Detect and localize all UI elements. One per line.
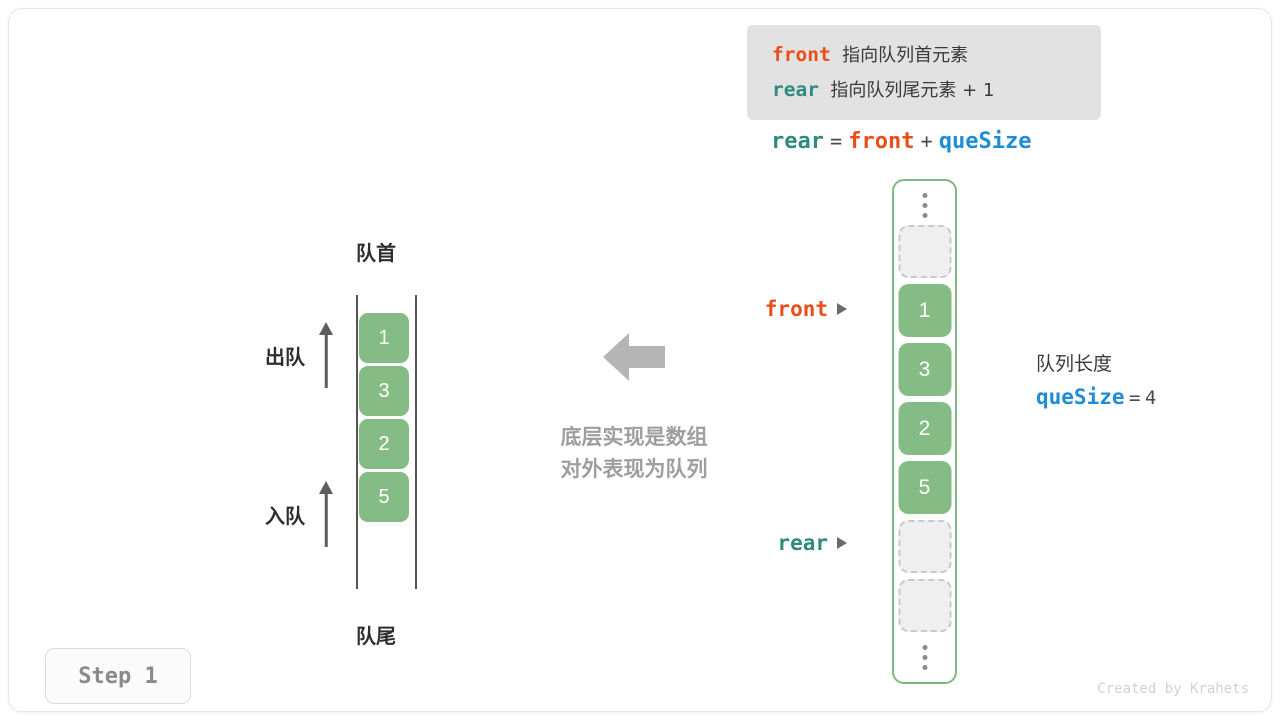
quesize-var: queSize — [1036, 385, 1125, 409]
equation-rhs-front: front — [848, 129, 914, 154]
credit-text: Created by Krahets — [1097, 681, 1249, 697]
diagram-card: front 指向队列首元素 rear 指向队列尾元素 + 1 rear = fr… — [8, 8, 1272, 712]
legend-line-rear: rear 指向队列尾元素 + 1 — [772, 73, 1101, 108]
queue-cell-2: 2 — [359, 419, 409, 469]
arrow-left-icon — [603, 329, 665, 385]
arrow-up-icon-dequeue — [319, 322, 333, 388]
legend-desc-front: 指向队列首元素 — [842, 45, 968, 66]
array-cell-1: 1 — [898, 284, 951, 337]
front-pointer: front — [765, 297, 847, 321]
queue-cell-3: 5 — [359, 472, 409, 522]
array-cell-0 — [898, 225, 951, 278]
queue-rail-right — [415, 295, 417, 589]
queue-tail-label: 队尾 — [356, 620, 396, 649]
equation-lhs: rear — [771, 129, 824, 154]
equation-rhs-quesize: queSize — [939, 129, 1032, 154]
pointer-equation: rear = front + queSize — [771, 128, 1032, 154]
array-cell-2: 3 — [898, 343, 951, 396]
rear-pointer: rear — [777, 531, 847, 555]
step-badge: Step 1 — [45, 648, 191, 704]
arrow-right-icon-rear — [837, 537, 847, 549]
quesize-note: 队列长度 queSize = 4 — [1036, 350, 1156, 417]
dequeue-indicator: 出队 — [265, 322, 333, 388]
queue-cell-1: 3 — [359, 366, 409, 416]
legend-line-front: front 指向队列首元素 — [772, 38, 1101, 73]
enqueue-label: 入队 — [265, 500, 305, 529]
array-cell-6 — [898, 579, 951, 632]
center-caption-line1: 底层实现是数组 — [539, 422, 729, 454]
arrow-up-icon-enqueue — [319, 481, 333, 547]
front-pointer-label: front — [765, 297, 828, 321]
array-cell-5 — [898, 520, 951, 573]
center-caption: 底层实现是数组 对外表现为队列 — [539, 422, 729, 486]
enqueue-indicator: 入队 — [265, 481, 333, 547]
quesize-title: 队列长度 — [1036, 350, 1156, 380]
array-cell-3: 2 — [898, 402, 951, 455]
rear-pointer-label: rear — [777, 531, 828, 555]
quesize-expression: queSize = 4 — [1036, 380, 1156, 417]
queue-cell-0: 1 — [359, 313, 409, 363]
vertical-ellipsis-icon-top — [922, 193, 927, 218]
vertical-ellipsis-icon-bottom — [922, 645, 927, 670]
legend-term-rear: rear — [772, 78, 819, 101]
quesize-equals: = — [1129, 387, 1140, 409]
legend-box: front 指向队列首元素 rear 指向队列尾元素 + 1 — [747, 25, 1101, 120]
dequeue-label: 出队 — [265, 341, 305, 370]
equation-equals: = — [830, 129, 842, 153]
equation-plus: + — [921, 129, 933, 153]
queue-rail-left — [356, 295, 358, 589]
legend-term-front: front — [772, 43, 831, 66]
array-cell-4: 5 — [898, 461, 951, 514]
quesize-value: 4 — [1145, 387, 1156, 409]
arrow-right-icon-front — [837, 303, 847, 315]
center-caption-line2: 对外表现为队列 — [539, 454, 729, 486]
queue-head-label: 队首 — [356, 237, 396, 266]
array-frame: 1 3 2 5 — [892, 179, 957, 684]
legend-desc-rear: 指向队列尾元素 + 1 — [830, 80, 994, 101]
